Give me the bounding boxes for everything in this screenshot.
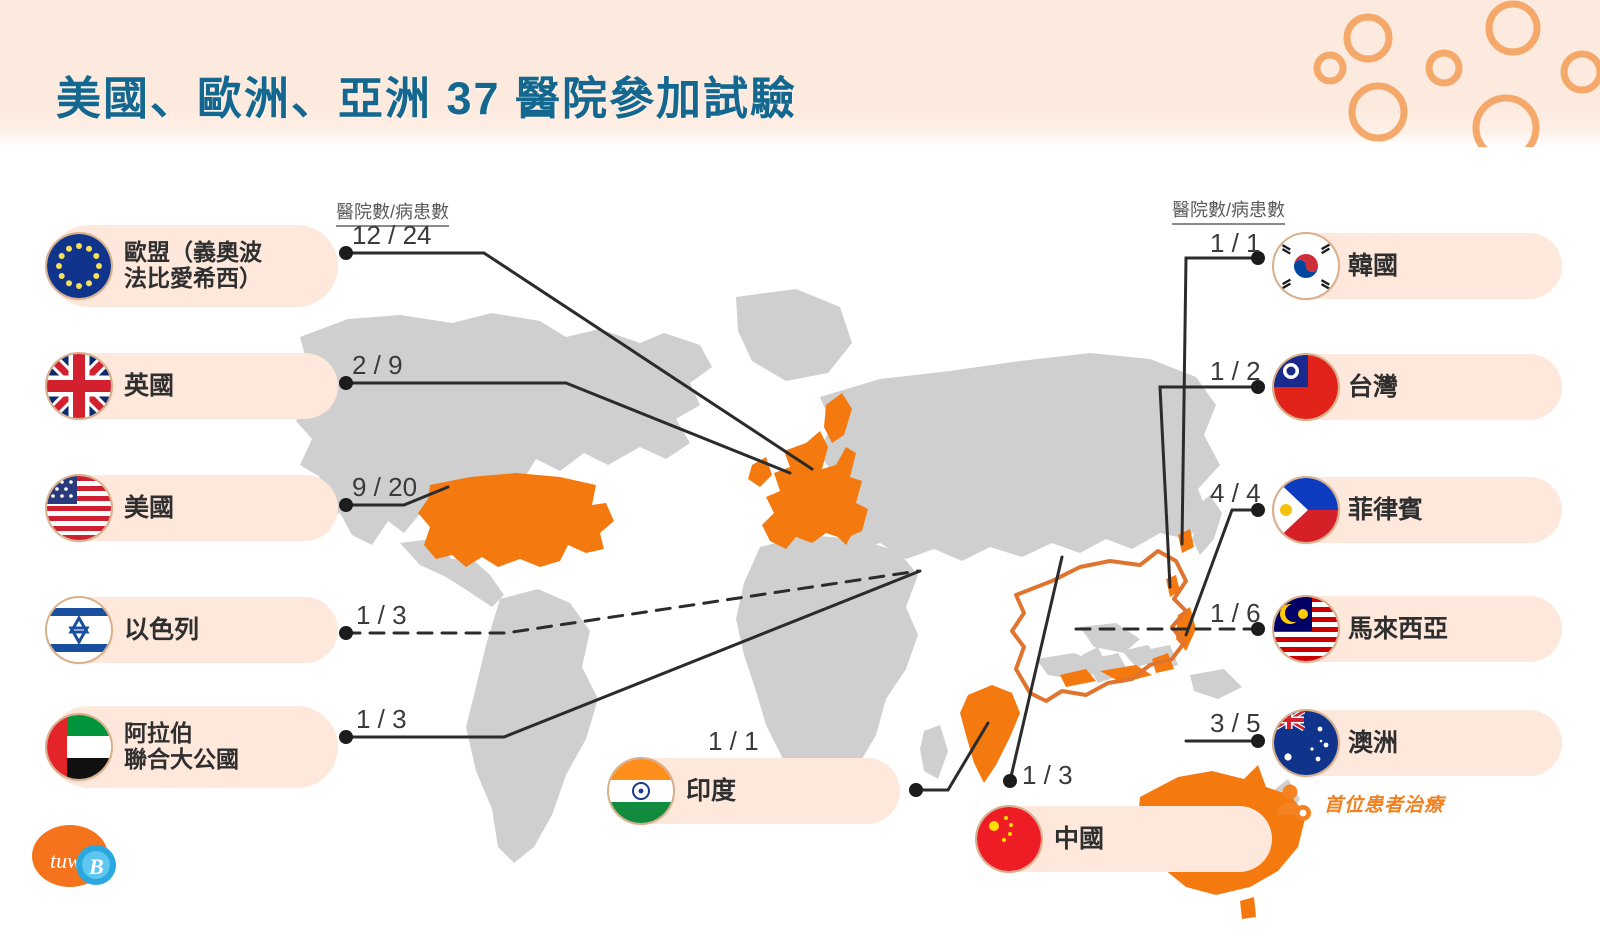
ratio-uae: 1 / 3: [356, 704, 407, 735]
ratio-australia: 3 / 5: [1210, 708, 1261, 739]
header-band: 美國、歐洲、亞洲 37 醫院參加試驗: [0, 0, 1600, 147]
country-pill-india[interactable]: 印度: [610, 758, 900, 824]
country-pill-us[interactable]: 美國: [48, 475, 338, 541]
ratio-india: 1 / 1: [708, 726, 759, 757]
right-column-caption: 醫院數/病患數: [1172, 196, 1285, 225]
ratio-eu: 12 / 24: [352, 220, 432, 251]
first-patient-treated-icon: [1272, 782, 1314, 824]
country-name-philippines: 菲律賓: [1348, 496, 1423, 524]
page-title: 美國、歐洲、亞洲 37 醫院參加試驗: [56, 62, 797, 127]
country-pill-korea[interactable]: 韓國: [1272, 233, 1562, 299]
country-pill-philippines[interactable]: 菲律賓: [1272, 477, 1562, 543]
country-name-taiwan: 台灣: [1348, 373, 1398, 401]
india-flag-icon: [609, 759, 673, 823]
logo-badge-letter: B: [88, 854, 104, 879]
uk-flag-icon: [47, 354, 111, 418]
ratio-uk: 2 / 9: [352, 350, 403, 381]
country-pill-uae[interactable]: 阿拉伯 聯合大公國: [48, 706, 338, 788]
connector-dots: [339, 246, 1265, 797]
ratio-us: 9 / 20: [352, 472, 417, 503]
country-pill-uk[interactable]: 英國: [48, 353, 338, 419]
korea-flag-icon: [1274, 234, 1338, 298]
country-pill-china[interactable]: 中國: [978, 806, 1272, 872]
brand-logo: tuw B: [28, 818, 124, 894]
us-flag-icon: [47, 476, 111, 540]
uae-flag-icon: [47, 715, 111, 779]
country-pill-israel[interactable]: 以色列: [48, 597, 338, 663]
malaysia-flag-icon: [1274, 597, 1338, 661]
country-pill-taiwan[interactable]: 台灣: [1272, 354, 1562, 420]
legend-label: 首位患者治療: [1324, 790, 1444, 817]
china-flag-icon: [977, 807, 1041, 871]
legend: 首位患者治療: [1272, 782, 1444, 824]
country-name-uae: 阿拉伯 聯合大公國: [124, 721, 239, 773]
country-name-eu: 歐盟（義奧波 法比愛希西）: [124, 240, 262, 292]
ratio-malaysia: 1 / 6: [1210, 598, 1261, 629]
country-pill-australia[interactable]: 澳洲: [1272, 710, 1562, 776]
country-name-uk: 英國: [124, 372, 174, 400]
ratio-korea: 1 / 1: [1210, 228, 1261, 259]
country-name-malaysia: 馬來西亞: [1348, 615, 1448, 643]
country-name-india: 印度: [686, 777, 736, 805]
ratio-israel: 1 / 3: [356, 600, 407, 631]
taiwan-flag-icon: [1274, 355, 1338, 419]
philippines-flag-icon: [1274, 478, 1338, 542]
country-name-korea: 韓國: [1348, 252, 1398, 280]
country-name-us: 美國: [124, 494, 174, 522]
australia-flag-icon: [1274, 711, 1338, 775]
country-name-israel: 以色列: [124, 616, 199, 644]
country-name-china: 中國: [1054, 825, 1104, 853]
israel-flag-icon: [47, 598, 111, 662]
ratio-taiwan: 1 / 2: [1210, 356, 1261, 387]
ratio-china: 1 / 3: [1022, 760, 1073, 791]
country-pill-eu[interactable]: 歐盟（義奧波 法比愛希西）: [48, 225, 338, 307]
eu-flag-icon: [47, 234, 111, 298]
ratio-philippines: 4 / 4: [1210, 478, 1261, 509]
bubble-rings-decoration: [1310, 0, 1600, 147]
country-pill-malaysia[interactable]: 馬來西亞: [1272, 596, 1562, 662]
country-name-australia: 澳洲: [1348, 729, 1398, 757]
